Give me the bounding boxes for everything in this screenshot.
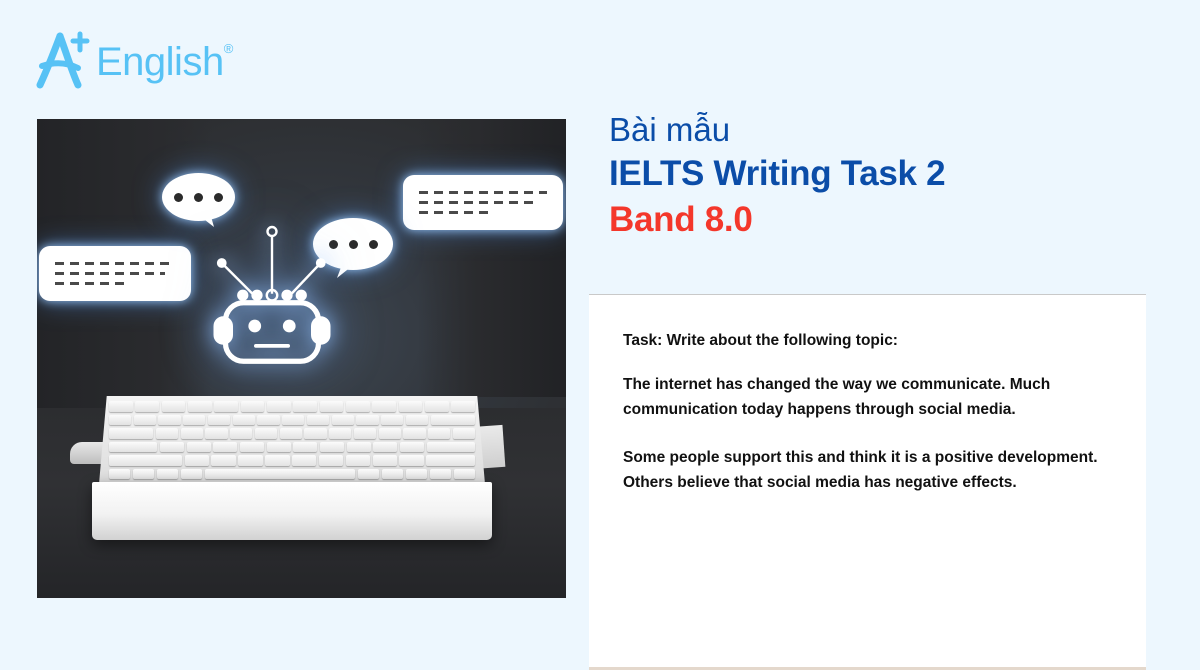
brand-wordmark: English®: [96, 42, 233, 82]
registered-mark-icon: ®: [224, 41, 233, 56]
typing-dot: [194, 193, 203, 202]
dash-line: [419, 191, 547, 194]
hero-photo: SMART CHATBOT: [37, 119, 566, 598]
dash-line: [55, 272, 165, 275]
brand-word-text: English: [96, 40, 224, 84]
typing-dot: [349, 240, 358, 249]
keyboard-row: [109, 469, 475, 480]
task-paragraph-2: Some people support this and think it is…: [623, 445, 1112, 495]
dash-line: [419, 201, 534, 204]
keyboard-keys-panel: [99, 396, 485, 484]
message-box-left: [39, 246, 191, 301]
message-box-right: [403, 175, 563, 230]
keyboard-row: [109, 401, 475, 412]
keyboard-row: [109, 455, 475, 466]
a-plus-logo-icon: [36, 30, 94, 90]
task-card: Task: Write about the following topic: T…: [589, 294, 1146, 670]
dash-line: [55, 262, 175, 265]
keyboard: [92, 396, 492, 556]
photo-vignette-right: [418, 119, 566, 397]
page-title: IELTS Writing Task 2: [589, 150, 1145, 197]
kicker-text: Bài mẫu: [589, 110, 1145, 150]
typing-dot: [369, 240, 378, 249]
keyboard-base: [92, 482, 492, 540]
brand-logo: English®: [36, 28, 233, 92]
keyboard-row: [109, 428, 475, 439]
speech-bubble-left: [162, 173, 235, 221]
heading-block: Bài mẫu IELTS Writing Task 2 Band 8.0: [589, 110, 1145, 242]
typing-dot: [174, 193, 183, 202]
task-label: Task: Write about the following topic:: [623, 333, 1112, 349]
dash-line: [55, 282, 127, 285]
typing-dot: [214, 193, 223, 202]
robot-head-icon: [197, 219, 347, 367]
keyboard-row: [109, 415, 475, 426]
keyboard-row: [109, 442, 475, 453]
band-score: Band 8.0: [589, 197, 1145, 243]
task-paragraph-1: The internet has changed the way we comm…: [623, 372, 1112, 422]
dash-line: [419, 211, 493, 214]
